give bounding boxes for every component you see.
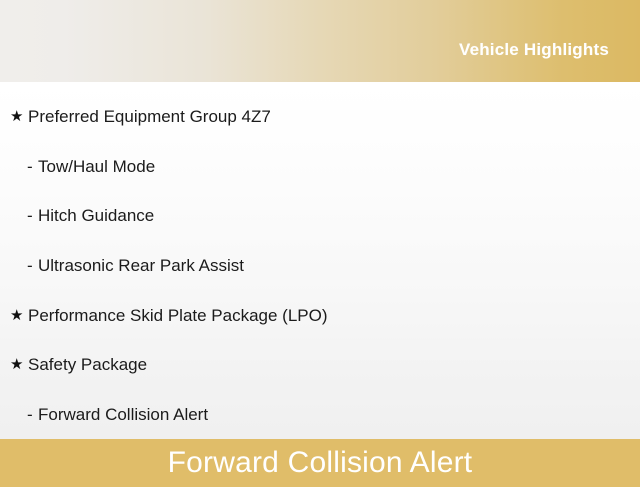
dash-bullet-icon: - — [27, 158, 38, 175]
highlight-label: Safety Package — [28, 356, 147, 373]
highlight-item: ★Safety Package — [0, 340, 640, 390]
dash-bullet-icon: - — [27, 406, 38, 423]
dash-bullet-icon: - — [27, 257, 38, 274]
star-bullet-icon: ★ — [10, 109, 28, 124]
header-band: Vehicle Highlights — [0, 0, 640, 82]
highlight-subitem: -Tow/Haul Mode — [0, 142, 640, 192]
highlight-label: Preferred Equipment Group 4Z7 — [28, 108, 271, 125]
highlight-item: ★Preferred Equipment Group 4Z7 — [0, 92, 640, 142]
highlight-label: Forward Collision Alert — [38, 406, 208, 423]
highlights-list: ★Preferred Equipment Group 4Z7-Tow/Haul … — [0, 92, 640, 439]
highlight-subitem: -Hitch Guidance — [0, 191, 640, 241]
highlight-subitem: -Forward Collision Alert — [0, 390, 640, 440]
star-bullet-icon: ★ — [10, 308, 28, 323]
highlight-subitem: -Ultrasonic Rear Park Assist — [0, 241, 640, 291]
dash-bullet-icon: - — [27, 207, 38, 224]
highlight-label: Hitch Guidance — [38, 207, 154, 224]
highlight-label: Tow/Haul Mode — [38, 158, 155, 175]
highlight-item: ★Performance Skid Plate Package (LPO) — [0, 290, 640, 340]
highlight-label: Ultrasonic Rear Park Assist — [38, 257, 244, 274]
content-area: ★Preferred Equipment Group 4Z7-Tow/Haul … — [0, 82, 640, 439]
vehicle-highlights-slide: Vehicle Highlights ★Preferred Equipment … — [0, 0, 640, 480]
star-bullet-icon: ★ — [10, 357, 28, 372]
footer-caption-text: Forward Collision Alert — [168, 448, 473, 478]
highlight-label: Performance Skid Plate Package (LPO) — [28, 307, 328, 324]
page-title: Vehicle Highlights — [459, 22, 640, 60]
